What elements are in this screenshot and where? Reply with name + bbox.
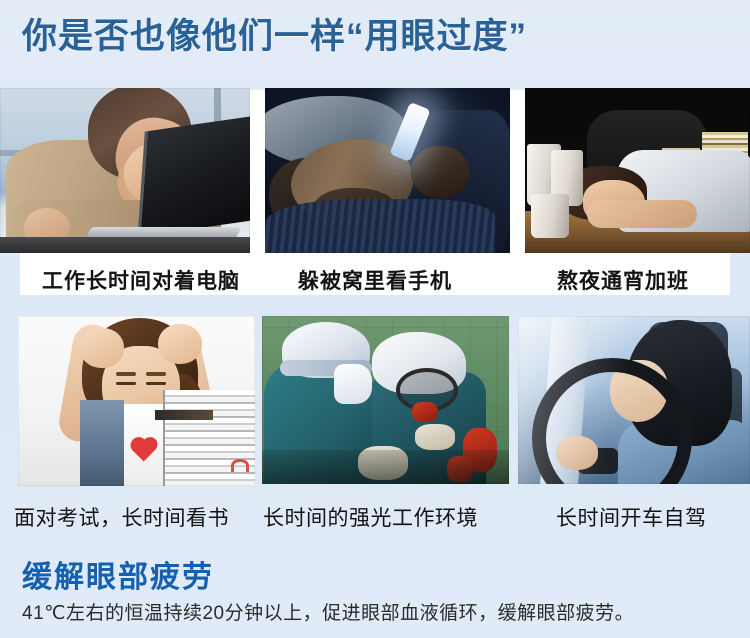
photo-cell-work-computer [0,88,250,253]
caption-overnight-overtime: 熬夜通宵加班 [557,265,689,295]
photo-cell-bright-light-work [262,316,509,484]
image-row-2 [0,316,750,486]
scene-overnight-overtime [525,88,750,253]
photo-cell-exam-study [18,316,255,486]
scene-work-computer [0,88,250,253]
caption-bright-light-work: 长时间的强光工作环境 [263,502,478,532]
promo-page: 你是否也像他们一样“用眼过度” [0,0,750,638]
image-row-1 [0,88,750,253]
photo-cell-long-drive [518,316,750,484]
caption-work-computer: 工作长时间对着电脑 [42,265,240,295]
scene-bright-light-work [262,316,509,484]
caption-long-drive: 长时间开车自驾 [556,502,707,532]
section-heading-relieve-fatigue: 缓解眼部疲劳 [22,552,214,596]
caption-phone-in-bed: 躲被窝里看手机 [298,265,452,295]
scene-phone-in-bed [265,88,510,253]
page-title: 你是否也像他们一样“用眼过度” [22,8,527,59]
scene-long-drive [518,316,750,484]
caption-exam-study: 面对考试，长时间看书 [14,502,229,532]
scene-exam-study [18,316,255,486]
photo-cell-overnight-overtime [525,88,750,253]
section-subtext-relieve-fatigue: 41℃左右的恒温持续20分钟以上，促进眼部血液循环，缓解眼部疲劳。 [22,598,634,625]
photo-cell-phone-in-bed [265,88,510,253]
